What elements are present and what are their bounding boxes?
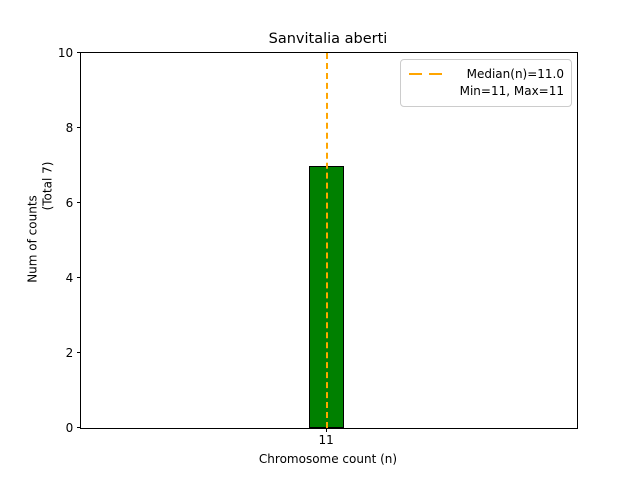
- plot-area: [81, 53, 577, 428]
- ytick-6: 6: [77, 202, 81, 203]
- ytick-label-8: 8: [66, 122, 74, 134]
- legend-label-group: Median(n)=11.0 Min=11, Max=11: [453, 66, 564, 100]
- ytick-label-10: 10: [58, 47, 73, 59]
- figure-canvas: Sanvitalia aberti 0 2 4 6 8 10 11: [0, 0, 640, 480]
- legend-line-sample: [408, 66, 446, 83]
- legend-box[interactable]: Median(n)=11.0 Min=11, Max=11: [400, 59, 572, 107]
- ytick-label-0: 0: [66, 422, 74, 434]
- ytick-label-2: 2: [66, 347, 74, 359]
- legend-dash-1: [409, 73, 422, 75]
- chart-title: Sanvitalia aberti: [80, 30, 576, 48]
- legend-label-minmax: Min=11, Max=11: [453, 83, 564, 100]
- ytick-2: 2: [77, 352, 81, 353]
- y-axis-label: Num of counts: [27, 195, 40, 283]
- xtick-11: [326, 428, 327, 432]
- plot-axes: 0 2 4 6 8 10 11 Median(n)=11.0 Min: [80, 52, 578, 429]
- legend-label-median: Median(n)=11.0: [453, 66, 564, 83]
- ytick-label-4: 4: [66, 272, 74, 284]
- xtick-label-11: 11: [319, 433, 334, 447]
- legend-dash-2: [429, 73, 442, 75]
- ytick-8: 8: [77, 127, 81, 128]
- ytick-4: 4: [77, 277, 81, 278]
- y-axis-total-label: (Total 7): [42, 162, 55, 211]
- x-axis-label: Chromosome count (n): [80, 452, 576, 466]
- ytick-0: 0: [77, 427, 81, 428]
- ytick-10: 10: [77, 52, 81, 53]
- median-line: [326, 53, 328, 428]
- ytick-label-6: 6: [66, 197, 74, 209]
